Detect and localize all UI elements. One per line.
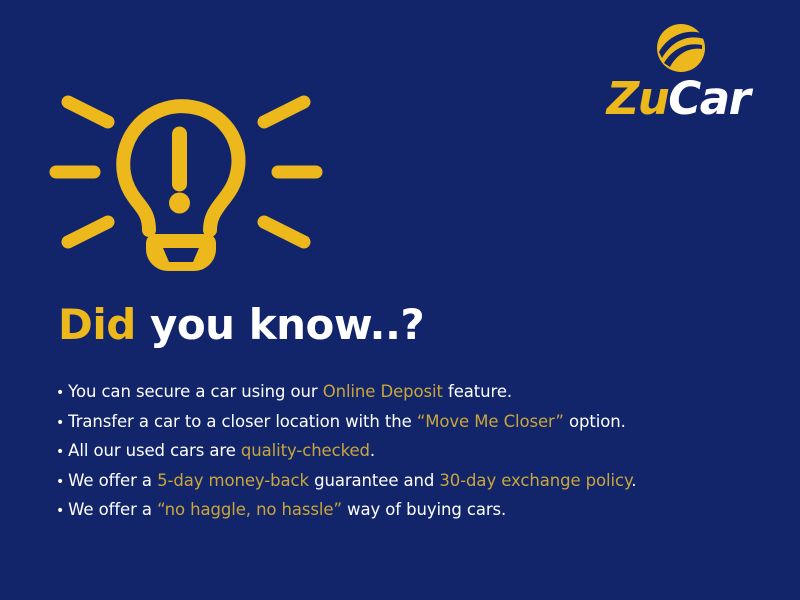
fact-text-plain: feature. [443,382,512,401]
fact-text-highlight: “Move Me Closer” [417,412,564,431]
bullet-glyph: • [56,444,68,460]
fact-text-highlight: 5-day money-back [157,471,309,490]
fact-text-highlight: Online Deposit [323,382,443,401]
fact-text-plain: option. [564,412,626,431]
fact-text-plain: We offer a [68,471,157,490]
list-item: •We offer a 5-day money-back guarantee a… [56,467,756,497]
fact-list: •You can secure a car using our Online D… [56,378,756,526]
brand-wordmark: ZuCar [607,76,750,121]
fact-text-highlight: 30-day exchange policy [439,471,631,490]
page-title-main: you know..? [136,300,424,349]
promo-slide: ZuCar Did you know. [0,0,800,600]
bullet-glyph: • [56,474,68,490]
list-item: •We offer a “no haggle, no hassle” way o… [56,496,756,526]
fact-text-plain: . [370,441,375,460]
fact-text-plain: Transfer a car to a closer location with… [68,412,417,431]
fact-text-plain: All our used cars are [68,441,241,460]
page-title: Did you know..? [58,303,424,347]
bullet-glyph: • [56,503,68,519]
bullet-glyph: • [56,415,68,431]
lightbulb-with-exclamation-icon [46,62,326,287]
fact-text-plain: guarantee and [309,471,439,490]
fact-text-plain: . [631,471,636,490]
fact-text-plain: We offer a [68,500,157,519]
brand-logo: ZuCar [588,22,768,122]
brand-wordmark-part2: Car [668,72,749,125]
brand-wordmark-part1: Zu [607,72,669,125]
page-title-accent: Did [58,300,136,349]
zucar-circle-swoosh-logo-icon [655,22,707,74]
bullet-glyph: • [56,385,68,401]
list-item: •All our used cars are quality-checked. [56,437,756,467]
fact-text-plain: way of buying cars. [342,500,506,519]
fact-text-highlight: quality-checked [241,441,370,460]
fact-text-highlight: “no haggle, no hassle” [157,500,342,519]
list-item: •Transfer a car to a closer location wit… [56,408,756,438]
list-item: •You can secure a car using our Online D… [56,378,756,408]
fact-text-plain: You can secure a car using our [68,382,323,401]
